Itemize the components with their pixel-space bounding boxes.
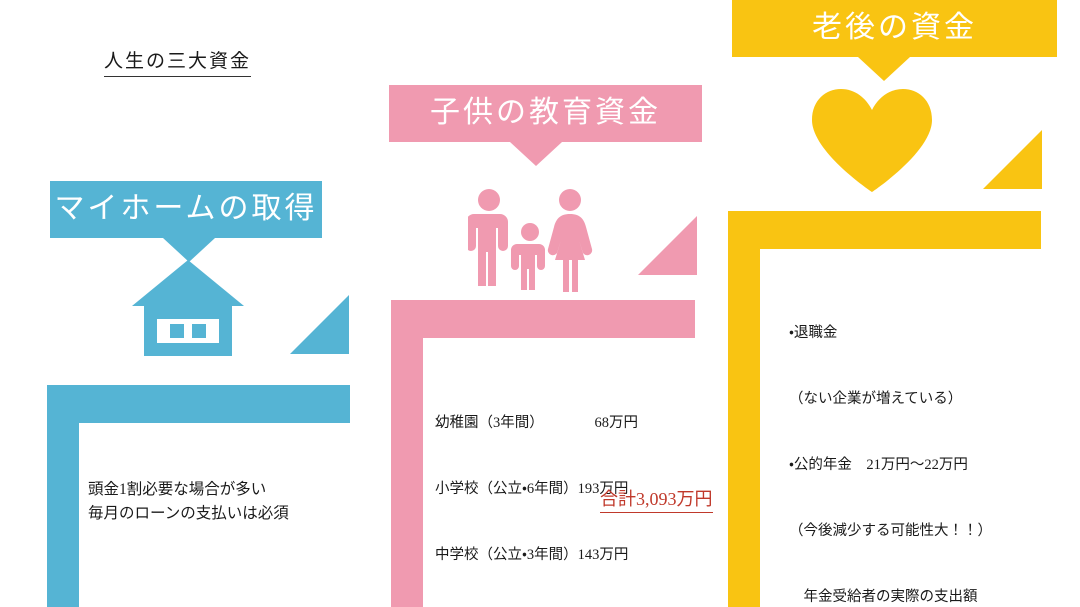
wedge-home: [290, 295, 349, 354]
column-education: 子供の教育資金 幼稚園（3年間） 68万円 小学校（公立・: [360, 0, 720, 607]
family-icon: [468, 188, 594, 292]
bracket-senior-horizontal: [728, 211, 1041, 249]
banner-senior-pointer: [858, 57, 910, 81]
bracket-education-horizontal: [391, 300, 695, 338]
banner-home: マイホームの取得: [50, 181, 322, 238]
home-description: 頭金1割必要な場合が多い 毎月のローンの支払いは必須: [88, 478, 289, 526]
banner-home-label: マイホームの取得: [54, 192, 317, 225]
banner-education-label: 子供の教育資金: [430, 96, 661, 129]
senior-line: （今後減少する可能性大！！）: [789, 520, 992, 542]
bracket-education-vertical: [391, 300, 423, 607]
column-home: マイホームの取得 頭金1割必要な場合が多い 毎月のローンの支払いは必須: [0, 0, 360, 607]
wedge-education: [638, 216, 697, 275]
bracket-home-vertical: [47, 385, 79, 607]
wedge-senior: [983, 130, 1042, 189]
banner-senior-label: 老後の資金: [812, 11, 977, 44]
house-icon: [130, 258, 246, 358]
bracket-senior-vertical: [728, 211, 760, 607]
senior-description: ・退職金 （ない企業が増えている） ・公的年金 21万円〜22万円 （今後減少す…: [789, 278, 992, 607]
senior-line: 年金受給者の実際の支出額: [789, 586, 992, 607]
senior-line: ・退職金: [789, 322, 992, 344]
cost-line: 幼稚園（3年間） 68万円: [435, 412, 672, 434]
bracket-home-horizontal: [47, 385, 350, 423]
banner-senior: 老後の資金: [732, 0, 1057, 57]
senior-line: （ない企業が増えている）: [789, 388, 992, 410]
heart-icon: [808, 86, 936, 196]
slide-canvas: 人生の三大資金 マイホームの取得 頭金1割必要な場合が多い 毎月のローンの支払い…: [0, 0, 1080, 607]
banner-education-pointer: [510, 142, 562, 166]
senior-line: ・公的年金 21万円〜22万円: [789, 454, 992, 476]
education-total: 合計3,093万円: [600, 485, 713, 513]
column-senior: 老後の資金 ・退職金 （ない企業が増えている） ・公的年金 21万円〜22万円 …: [720, 0, 1080, 607]
banner-education: 子供の教育資金: [389, 85, 702, 142]
cost-line: 中学校（公立・3年間）143万円: [435, 544, 672, 566]
